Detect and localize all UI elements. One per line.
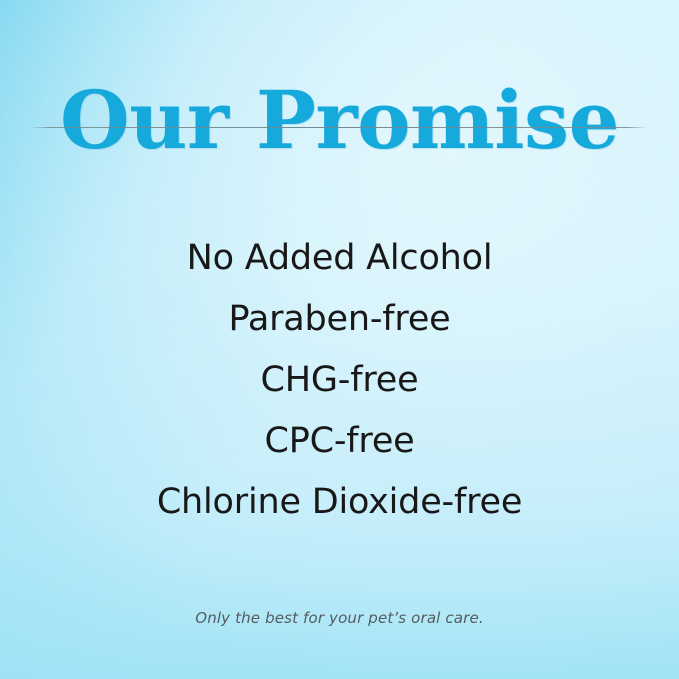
list-item: No Added Alcohol (0, 228, 679, 289)
promise-list: No Added Alcohol Paraben-free CHG-free C… (0, 228, 679, 533)
title-divider (31, 127, 646, 128)
promise-content: Our Promise No Added Alcohol Paraben-fre… (0, 0, 679, 679)
page-title: Our Promise (0, 80, 679, 162)
list-item: CPC-free (0, 411, 679, 472)
promise-card: Our Promise No Added Alcohol Paraben-fre… (0, 0, 679, 679)
list-item: Chlorine Dioxide-free (0, 472, 679, 533)
list-item: Paraben-free (0, 289, 679, 350)
list-item: CHG-free (0, 350, 679, 411)
footer-tagline: Only the best for your pet’s oral care. (0, 609, 679, 627)
